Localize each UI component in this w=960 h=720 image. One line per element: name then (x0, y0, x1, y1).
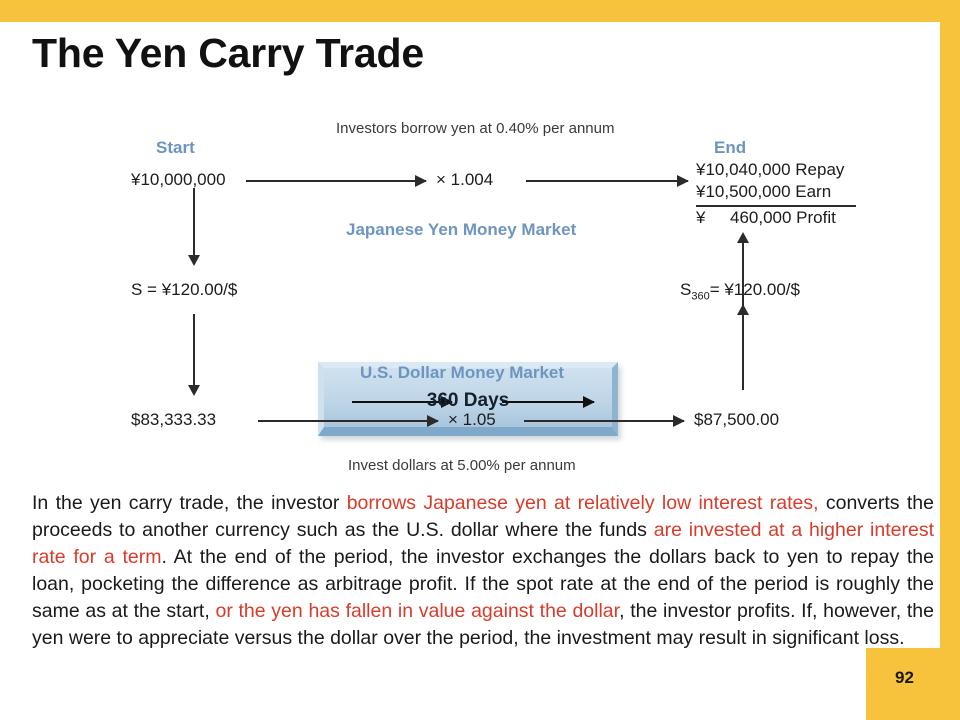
slide: The Yen Carry Trade Investors borrow yen… (0, 0, 960, 720)
top-accent-band (0, 0, 960, 22)
period-arrow-out (502, 401, 594, 403)
yen-multiplier: × 1.004 (436, 170, 493, 190)
body-segment-1: In the yen carry trade, the investor (32, 492, 347, 514)
right-accent-band (940, 0, 960, 720)
dollar-multiplier: × 1.05 (448, 410, 496, 430)
dollar-arrow-left (258, 420, 438, 422)
japanese-yen-money-market-label: Japanese Yen Money Market (346, 220, 576, 240)
end-repay-amount: ¥10,040,000 Repay (696, 160, 844, 180)
yen-arrow-right (526, 180, 688, 182)
page-title: The Yen Carry Trade (32, 30, 424, 77)
body-paragraph: In the yen carry trade, the investor bor… (32, 490, 934, 652)
end-label: End (714, 138, 746, 158)
end-profit-currency: ¥ (696, 208, 705, 228)
body-highlight-1: borrows Japanese yen at relatively low i… (347, 492, 819, 514)
borrow-rate-note: Investors borrow yen at 0.40% per annum (336, 120, 614, 137)
dollar-arrow-right (524, 420, 684, 422)
spot-conversion-arrow-up-2 (742, 314, 744, 390)
invest-rate-note: Invest dollars at 5.00% per annum (348, 457, 576, 474)
profit-divider-rule (696, 205, 856, 207)
spot-rate-end: S360= ¥120.00/$ (680, 280, 800, 302)
start-label: Start (156, 138, 195, 158)
start-yen-amount: ¥10,000,000 (131, 170, 226, 190)
spot-conversion-arrow-down-1 (193, 188, 195, 256)
spot-rate-end-value: = ¥120.00/$ (710, 280, 800, 299)
dollar-start-amount: $83,333.33 (131, 410, 216, 430)
page-number: 92 (895, 668, 914, 688)
us-dollar-money-market-label: U.S. Dollar Money Market (360, 363, 564, 383)
end-profit-amount: 460,000 Profit (730, 208, 836, 228)
end-earn-amount: ¥10,500,000 Earn (696, 182, 831, 202)
yen-carry-trade-diagram: Investors borrow yen at 0.40% per annum … (0, 100, 940, 495)
yen-arrow-left (246, 180, 426, 182)
spot-conversion-arrow-down-2 (193, 314, 195, 386)
spot-rate-start: S = ¥120.00/$ (131, 280, 237, 300)
spot-rate-end-symbol: S (680, 280, 691, 299)
dollar-end-amount: $87,500.00 (694, 410, 779, 430)
body-highlight-3: or the yen has fallen in value against t… (215, 600, 619, 622)
spot-rate-end-subscript: 360 (691, 290, 709, 302)
